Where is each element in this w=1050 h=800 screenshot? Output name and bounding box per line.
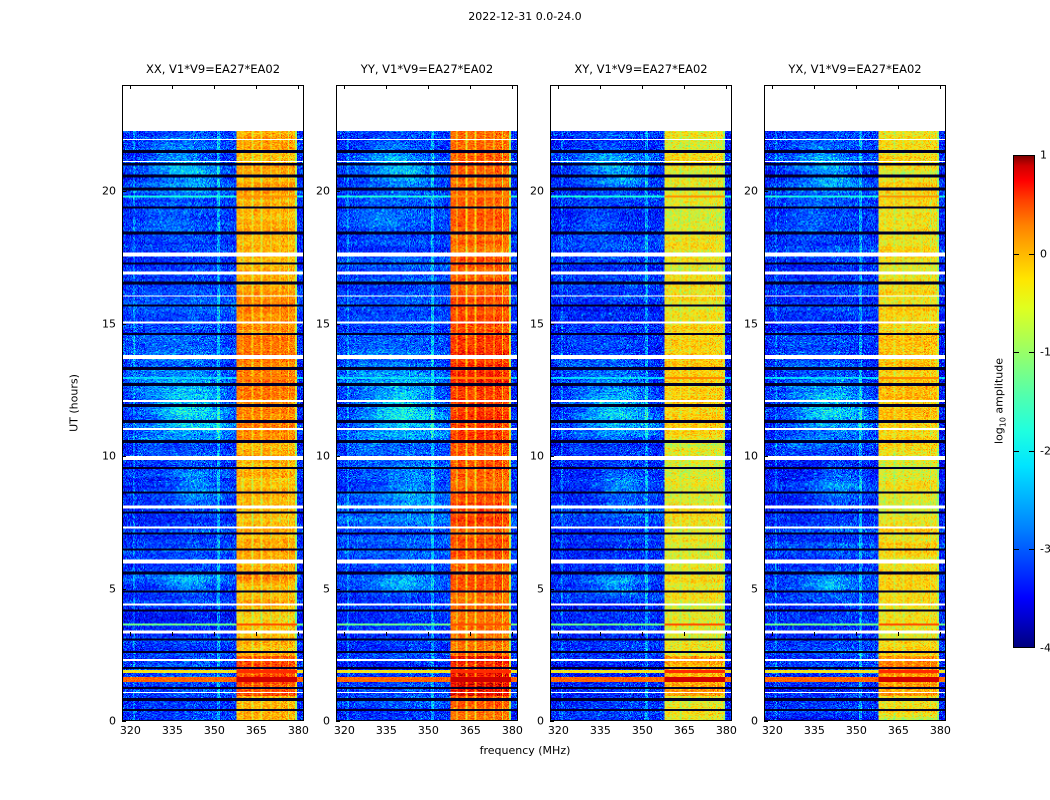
- y-tick-mark: [336, 456, 340, 457]
- y-tick-mark: [122, 324, 126, 325]
- x-ticklabel: 350: [632, 724, 653, 737]
- x-tick-mark: [814, 85, 815, 89]
- x-ticklabels-yy: 320335350365380: [336, 724, 518, 742]
- y-tick-mark: [122, 191, 126, 192]
- x-tick-mark: [386, 632, 387, 636]
- colorbar-ticklabel: 1: [1040, 149, 1047, 162]
- y-tick-mark: [550, 191, 554, 192]
- y-ticklabel: 15: [310, 317, 330, 330]
- y-ticklabel: 0: [310, 715, 330, 728]
- colorbar-tick-mark: [1029, 451, 1035, 452]
- x-tick-mark: [428, 85, 429, 89]
- y-ticklabel: 15: [96, 317, 116, 330]
- x-tick-mark: [214, 632, 215, 636]
- x-tick-mark: [172, 632, 173, 636]
- y-tick-mark: [550, 456, 554, 457]
- colorbar-tick-mark: [1013, 254, 1019, 255]
- x-ticklabel: 380: [716, 724, 737, 737]
- colorbar-label-suffix: amplitude: [992, 358, 1005, 417]
- x-tick-mark: [558, 632, 559, 636]
- y-ticklabel: 0: [96, 715, 116, 728]
- y-ticklabel: 20: [310, 185, 330, 198]
- x-tick-mark: [344, 85, 345, 89]
- x-ticklabel: 335: [590, 724, 611, 737]
- y-tick-mark: [764, 456, 768, 457]
- panel-axes-xx: [122, 85, 304, 721]
- x-ticklabel: 320: [120, 724, 141, 737]
- y-tick-mark: [550, 589, 554, 590]
- y-ticklabel: 10: [310, 450, 330, 463]
- y-tick-mark: [336, 721, 340, 722]
- colorbar: [1013, 155, 1035, 648]
- y-tick-mark: [122, 589, 126, 590]
- x-tick-mark: [642, 632, 643, 636]
- panel-axes-xy: [550, 85, 732, 721]
- x-tick-mark: [298, 632, 299, 636]
- panel-xy: XY, V1*V9=EA27*EA02: [550, 85, 732, 721]
- x-ticklabel: 350: [418, 724, 439, 737]
- y-tick-mark: [764, 589, 768, 590]
- x-tick-mark: [512, 632, 513, 636]
- x-tick-mark: [130, 85, 131, 89]
- x-ticklabel: 350: [846, 724, 867, 737]
- x-tick-mark: [898, 85, 899, 89]
- y-ticklabel: 20: [96, 185, 116, 198]
- x-tick-mark: [600, 85, 601, 89]
- panel-title-yx: YX, V1*V9=EA27*EA02: [788, 62, 921, 76]
- x-tick-mark: [856, 632, 857, 636]
- x-ticklabel: 320: [334, 724, 355, 737]
- y-tick-mark: [550, 324, 554, 325]
- colorbar-tick-mark: [1013, 352, 1019, 353]
- x-ticklabel: 365: [888, 724, 909, 737]
- panel-yx: YX, V1*V9=EA27*EA02: [764, 85, 946, 721]
- x-ticklabel: 335: [162, 724, 183, 737]
- x-tick-mark: [940, 85, 941, 89]
- x-ticklabel: 380: [502, 724, 523, 737]
- panel-axes-yx: [764, 85, 946, 721]
- x-ticklabel: 335: [376, 724, 397, 737]
- x-tick-mark: [298, 85, 299, 89]
- x-ticklabel: 350: [204, 724, 225, 737]
- figure-canvas: 2022-12-31 0.0-24.0 XX, V1*V9=EA27*EA02Y…: [0, 0, 1050, 800]
- y-tick-mark: [122, 456, 126, 457]
- colorbar-label: log10 amplitude: [992, 358, 1007, 444]
- x-tick-mark: [344, 632, 345, 636]
- x-tick-mark: [772, 85, 773, 89]
- x-tick-mark: [428, 632, 429, 636]
- y-ticklabel: 10: [96, 450, 116, 463]
- colorbar-tick-mark: [1013, 549, 1019, 550]
- y-tick-mark: [336, 324, 340, 325]
- x-tick-mark: [772, 632, 773, 636]
- x-tick-mark: [172, 85, 173, 89]
- y-tick-mark: [550, 721, 554, 722]
- x-tick-mark: [684, 85, 685, 89]
- x-tick-mark: [130, 632, 131, 636]
- x-tick-mark: [470, 85, 471, 89]
- x-ticklabel: 380: [288, 724, 309, 737]
- panel-xx: XX, V1*V9=EA27*EA02: [122, 85, 304, 721]
- x-tick-mark: [386, 85, 387, 89]
- x-tick-mark: [898, 632, 899, 636]
- y-tick-mark: [336, 191, 340, 192]
- colorbar-ticklabel: -2: [1040, 444, 1050, 457]
- x-tick-mark: [726, 85, 727, 89]
- y-ticklabel: 15: [738, 317, 758, 330]
- x-tick-mark: [600, 632, 601, 636]
- x-tick-mark: [558, 85, 559, 89]
- panel-title-xy: XY, V1*V9=EA27*EA02: [574, 62, 707, 76]
- colorbar-tick-mark: [1013, 451, 1019, 452]
- x-ticklabels-xy: 320335350365380: [550, 724, 732, 742]
- x-ticklabel: 365: [246, 724, 267, 737]
- x-ticklabel: 335: [804, 724, 825, 737]
- x-tick-mark: [814, 632, 815, 636]
- x-tick-mark: [214, 85, 215, 89]
- x-tick-mark: [940, 632, 941, 636]
- colorbar-ticklabel: 0: [1040, 247, 1047, 260]
- x-ticklabels-yx: 320335350365380: [764, 724, 946, 742]
- y-ticklabel: 10: [738, 450, 758, 463]
- colorbar-tick-mark: [1029, 549, 1035, 550]
- y-ticklabel: 5: [738, 582, 758, 595]
- y-tick-mark: [764, 191, 768, 192]
- x-tick-mark: [684, 632, 685, 636]
- y-ticklabel: 10: [524, 450, 544, 463]
- x-ticklabel: 320: [548, 724, 569, 737]
- y-ticklabel: 20: [524, 185, 544, 198]
- y-ticklabel: 5: [310, 582, 330, 595]
- x-tick-mark: [512, 85, 513, 89]
- x-ticklabel: 365: [460, 724, 481, 737]
- x-tick-mark: [256, 632, 257, 636]
- x-tick-mark: [726, 632, 727, 636]
- x-tick-mark: [856, 85, 857, 89]
- waterfall-image-yy: [337, 86, 517, 720]
- waterfall-image-xy: [551, 86, 731, 720]
- panel-axes-yy: [336, 85, 518, 721]
- x-ticklabel: 320: [762, 724, 783, 737]
- x-axis-label: frequency (MHz): [0, 744, 1050, 757]
- waterfall-image-xx: [123, 86, 303, 720]
- x-ticklabel: 365: [674, 724, 695, 737]
- colorbar-tick-mark: [1029, 254, 1035, 255]
- colorbar-ticklabel: -3: [1040, 543, 1050, 556]
- y-tick-mark: [764, 324, 768, 325]
- y-ticklabel: 0: [738, 715, 758, 728]
- waterfall-image-yx: [765, 86, 945, 720]
- colorbar-tick-mark: [1029, 352, 1035, 353]
- y-axis-label: UT (hours): [68, 374, 81, 432]
- x-tick-mark: [470, 632, 471, 636]
- y-ticklabel: 0: [524, 715, 544, 728]
- colorbar-ticklabel: -4: [1040, 642, 1050, 655]
- x-tick-mark: [256, 85, 257, 89]
- y-tick-mark: [336, 589, 340, 590]
- panel-title-yy: YY, V1*V9=EA27*EA02: [361, 62, 493, 76]
- x-ticklabel: 380: [930, 724, 951, 737]
- y-ticklabel: 5: [96, 582, 116, 595]
- x-ticklabels-xx: 320335350365380: [122, 724, 304, 742]
- colorbar-ticklabel: -1: [1040, 346, 1050, 359]
- x-tick-mark: [642, 85, 643, 89]
- panel-yy: YY, V1*V9=EA27*EA02: [336, 85, 518, 721]
- colorbar-label-sub: 10: [999, 417, 1008, 427]
- y-tick-mark: [122, 721, 126, 722]
- y-ticklabel: 5: [524, 582, 544, 595]
- y-ticklabel: 20: [738, 185, 758, 198]
- y-ticklabel: 15: [524, 317, 544, 330]
- colorbar-label-prefix: log: [992, 427, 1005, 444]
- figure-suptitle: 2022-12-31 0.0-24.0: [0, 10, 1050, 23]
- panel-title-xx: XX, V1*V9=EA27*EA02: [146, 62, 280, 76]
- y-tick-mark: [764, 721, 768, 722]
